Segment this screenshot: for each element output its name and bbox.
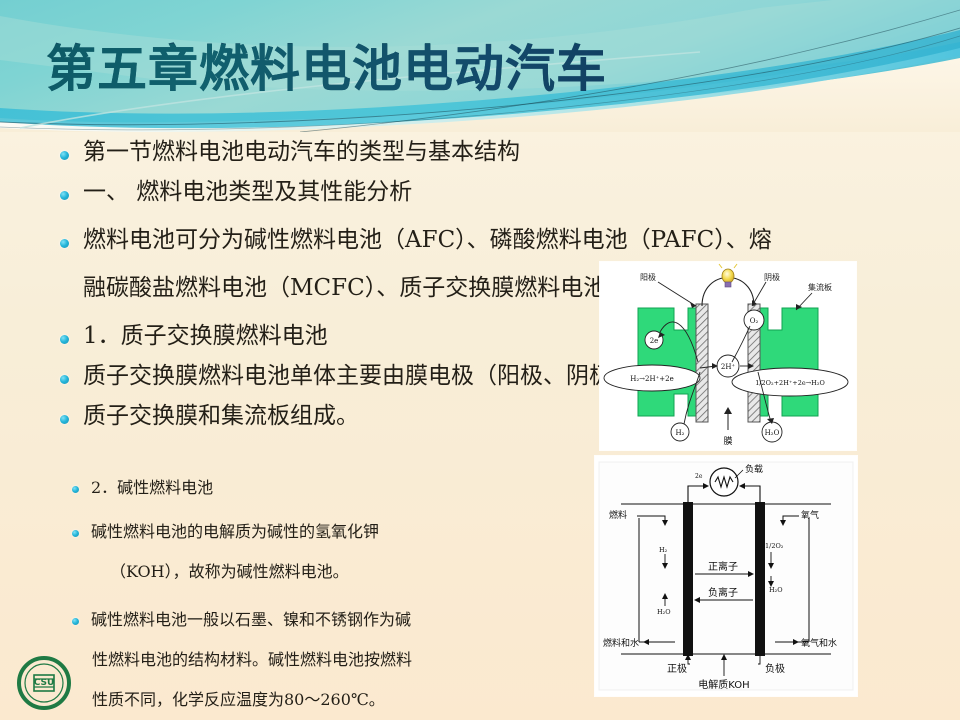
label-positive-ion: 正离子 xyxy=(708,560,738,573)
list-item-label: （KOH），故称为碱性燃料电池。 xyxy=(110,562,349,583)
bullet-dot-icon xyxy=(72,530,79,537)
page-title: 第五章燃料电池电动汽车 xyxy=(46,44,607,94)
label-fuel-and-water: 燃料和水 xyxy=(603,637,639,649)
bullet-dot-icon xyxy=(60,191,69,200)
cathode-reaction-equation: 1/2O₂+2H⁺+2e→H₂O xyxy=(755,379,825,387)
list-item-label: 2．碱性燃料电池 xyxy=(91,478,213,499)
label-anode: 阳极 xyxy=(640,272,656,282)
university-seal-logo: CSU xyxy=(16,655,72,711)
label-hydrogen: H₂ xyxy=(676,429,685,437)
list-item-label: 质子交换膜和集流板组成。 xyxy=(83,402,359,431)
list-item: 燃料电池可分为碱性燃料电池（AFC）、磷酸燃料电池（PAFC）、熔 xyxy=(60,226,772,255)
positive-electrode-bar xyxy=(683,502,693,656)
label-electrons: 2e xyxy=(650,337,659,345)
list-item-label: 性质不同，化学反应温度为80～260℃。 xyxy=(92,690,385,711)
label-electrolyte: 电解质KOH xyxy=(698,678,749,691)
list-item: 第一节燃料电池电动汽车的类型与基本结构 xyxy=(60,138,520,167)
label-water-right: H₂O xyxy=(769,586,783,594)
label-negative-electrode: 负极 xyxy=(765,662,785,675)
list-item: 一、 燃料电池类型及其性能分析 xyxy=(60,178,412,207)
label-half-oxygen: 1/2O₂ xyxy=(765,542,784,550)
list-item-label: 碱性燃料电池的电解质为碱性的氢氧化钾 xyxy=(91,522,379,543)
label-negative-ion: 负离子 xyxy=(708,586,738,599)
pem-fuel-cell-graphic: 阳极 阴极 集流板 2e O₂ 2H⁺ H₂ H₂ xyxy=(600,262,856,450)
seal-abbr: CSU xyxy=(16,655,72,711)
bullet-dot-icon xyxy=(60,415,69,424)
bullet-dot-icon xyxy=(60,151,69,160)
label-fuel-in: 燃料 xyxy=(609,509,627,521)
list-item: 质子交换膜和集流板组成。 xyxy=(60,402,359,431)
load-symbol xyxy=(710,468,738,496)
negative-electrode-bar xyxy=(755,502,765,656)
slide-root: 第五章燃料电池电动汽车 第五章燃料电池电动汽车 第一节燃料电池电动汽车的类型与基… xyxy=(0,0,960,720)
label-protons: 2H⁺ xyxy=(721,363,736,371)
list-item-label: 第一节燃料电池电动汽车的类型与基本结构 xyxy=(83,138,520,167)
label-water: H₂O xyxy=(765,429,780,437)
label-membrane: 膜 xyxy=(723,436,732,447)
label-oxygen-and-water: 氧气和水 xyxy=(801,637,837,649)
bullet-dot-icon xyxy=(60,375,69,384)
list-item-label: 性燃料电池的结构材料。碱性燃料电池按燃料 xyxy=(92,650,412,671)
list-item-label: 燃料电池可分为碱性燃料电池（AFC）、磷酸燃料电池（PAFC）、熔 xyxy=(83,226,772,255)
list-item-label: 质子交换膜燃料电池单体主要由膜电极（阳极、阴极）、 xyxy=(83,362,647,391)
label-electrons: 2e xyxy=(695,473,703,480)
alkaline-fuel-cell-graphic: 负载 2e 燃料 H₂ H₂O 燃料和水 氧气 xyxy=(595,456,857,696)
list-item-continuation: 性质不同，化学反应温度为80～260℃。 xyxy=(92,690,385,711)
list-item: 质子交换膜燃料电池单体主要由膜电极（阳极、阴极）、 xyxy=(60,362,647,391)
label-positive-electrode: 正极 xyxy=(667,662,687,675)
list-item-continuation: 性燃料电池的结构材料。碱性燃料电池按燃料 xyxy=(92,650,412,671)
label-water: H₂O xyxy=(657,608,671,616)
label-oxygen: O₂ xyxy=(750,317,759,325)
list-item: 2．碱性燃料电池 xyxy=(72,478,213,499)
figure-alkaline-fuel-cell: 负载 2e 燃料 H₂ H₂O 燃料和水 氧气 xyxy=(595,456,857,696)
label-oxygen-in: 氧气 xyxy=(801,509,819,521)
anode-electrode xyxy=(696,304,708,422)
list-item: 1．质子交换膜燃料电池 xyxy=(60,322,328,351)
figure-pem-fuel-cell: 阳极 阴极 集流板 2e O₂ 2H⁺ H₂ H₂ xyxy=(600,262,856,450)
list-item-continuation: （KOH），故称为碱性燃料电池。 xyxy=(110,562,349,583)
label-collector-plate: 集流板 xyxy=(808,282,832,292)
list-item-label: 一、 燃料电池类型及其性能分析 xyxy=(83,178,412,207)
label-load: 负载 xyxy=(745,463,763,475)
list-item: 碱性燃料电池一般以石墨、镍和不锈钢作为碱 xyxy=(72,610,411,631)
bullet-dot-icon xyxy=(72,486,79,493)
bullet-dot-icon xyxy=(60,239,69,248)
list-item-label: 1．质子交换膜燃料电池 xyxy=(83,322,328,351)
bullet-dot-icon xyxy=(72,618,79,625)
label-hydrogen: H₂ xyxy=(659,546,668,554)
bullet-dot-icon xyxy=(60,335,69,344)
list-item-label: 碱性燃料电池一般以石墨、镍和不锈钢作为碱 xyxy=(91,610,411,631)
label-cathode: 阴极 xyxy=(764,272,780,282)
anode-reaction-equation: H₂→2H⁺+2e xyxy=(630,375,674,383)
list-item: 碱性燃料电池的电解质为碱性的氢氧化钾 xyxy=(72,522,379,543)
